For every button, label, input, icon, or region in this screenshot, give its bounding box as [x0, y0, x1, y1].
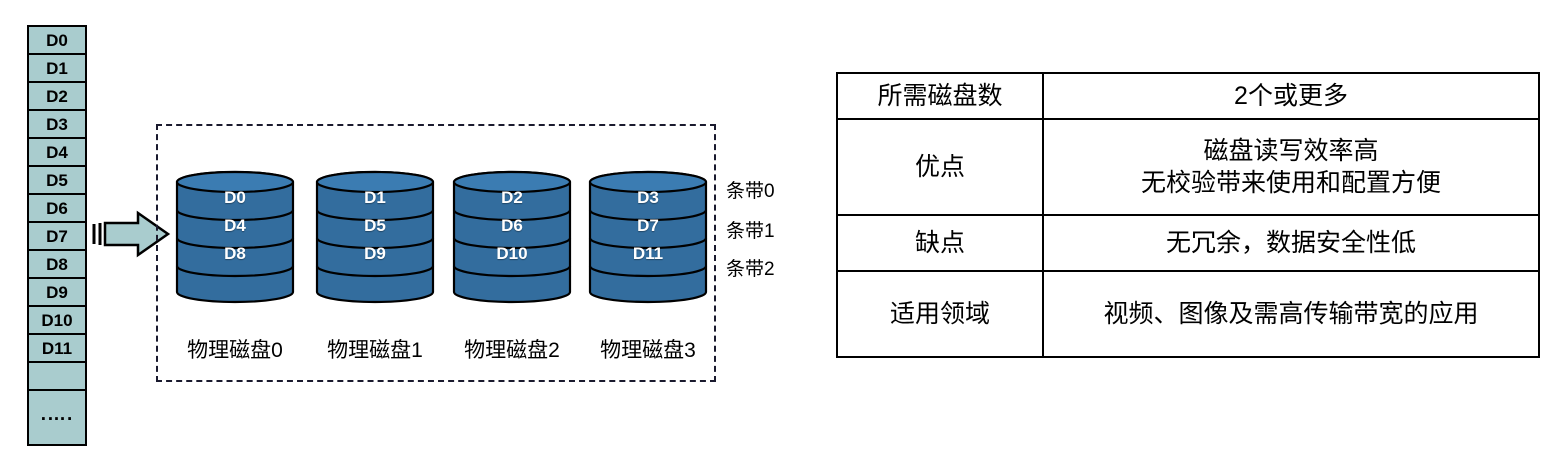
logical-block-cell: D7 — [29, 223, 85, 251]
table-row: 优点 磁盘读写效率高 无校验带来使用和配置方便 — [837, 119, 1539, 215]
raid0-attributes-table: 所需磁盘数 2个或更多 优点 磁盘读写效率高 无校验带来使用和配置方便 缺点 无… — [836, 72, 1540, 358]
table-cell-value: 磁盘读写效率高 无校验带来使用和配置方便 — [1043, 119, 1539, 215]
table-cell-value: 无冗余，数据安全性低 — [1043, 215, 1539, 271]
logical-block-cell: D0 — [29, 27, 85, 55]
logical-block-cell: D4 — [29, 139, 85, 167]
disk-caption-1: 物理磁盘1 — [300, 334, 450, 364]
disk-cylinder-2 — [452, 168, 572, 308]
logical-block-cell: D10 — [29, 307, 85, 335]
value-line: 2个或更多 — [1048, 80, 1534, 112]
logical-block-cell: D11 — [29, 335, 85, 363]
logical-block-cell: D1 — [29, 55, 85, 83]
disk-caption-3: 物理磁盘3 — [573, 334, 723, 364]
value-line: 无冗余，数据安全性低 — [1048, 227, 1534, 259]
logical-block-cell: D9 — [29, 279, 85, 307]
stripe-label-1: 条带1 — [726, 216, 775, 243]
table-cell-key: 优点 — [837, 119, 1043, 215]
disk-caption-2: 物理磁盘2 — [437, 334, 587, 364]
logical-block-cell: D6 — [29, 195, 85, 223]
logical-data-block-stack: D0 D1 D2 D3 D4 D5 D6 D7 D8 D9 D10 D11 .…… — [27, 25, 87, 446]
table-cell-key: 缺点 — [837, 215, 1043, 271]
logical-block-cell-ellipsis: .…. — [29, 391, 85, 446]
logical-block-cell: D3 — [29, 111, 85, 139]
stripe-label-2: 条带2 — [726, 254, 775, 281]
table-row: 适用领域 视频、图像及需高传输带宽的应用 — [837, 271, 1539, 357]
value-line: 磁盘读写效率高 — [1048, 135, 1534, 167]
logical-block-cell: D2 — [29, 83, 85, 111]
disk-cylinder-1 — [315, 168, 435, 308]
table-row: 所需磁盘数 2个或更多 — [837, 73, 1539, 119]
logical-block-cell: D5 — [29, 167, 85, 195]
table-cell-key: 所需磁盘数 — [837, 73, 1043, 119]
table-cell-value: 2个或更多 — [1043, 73, 1539, 119]
value-line: 无校验带来使用和配置方便 — [1048, 167, 1534, 199]
table-cell-key: 适用领域 — [837, 271, 1043, 357]
stripe-label-0: 条带0 — [726, 176, 775, 203]
logical-block-cell-empty — [29, 363, 85, 391]
disk-caption-0: 物理磁盘0 — [160, 334, 310, 364]
table-cell-value: 视频、图像及需高传输带宽的应用 — [1043, 271, 1539, 357]
value-line: 视频、图像及需高传输带宽的应用 — [1048, 298, 1534, 330]
table-row: 缺点 无冗余，数据安全性低 — [837, 215, 1539, 271]
logical-block-cell: D8 — [29, 251, 85, 279]
disk-cylinder-0 — [175, 168, 295, 308]
disk-cylinder-3 — [588, 168, 708, 308]
